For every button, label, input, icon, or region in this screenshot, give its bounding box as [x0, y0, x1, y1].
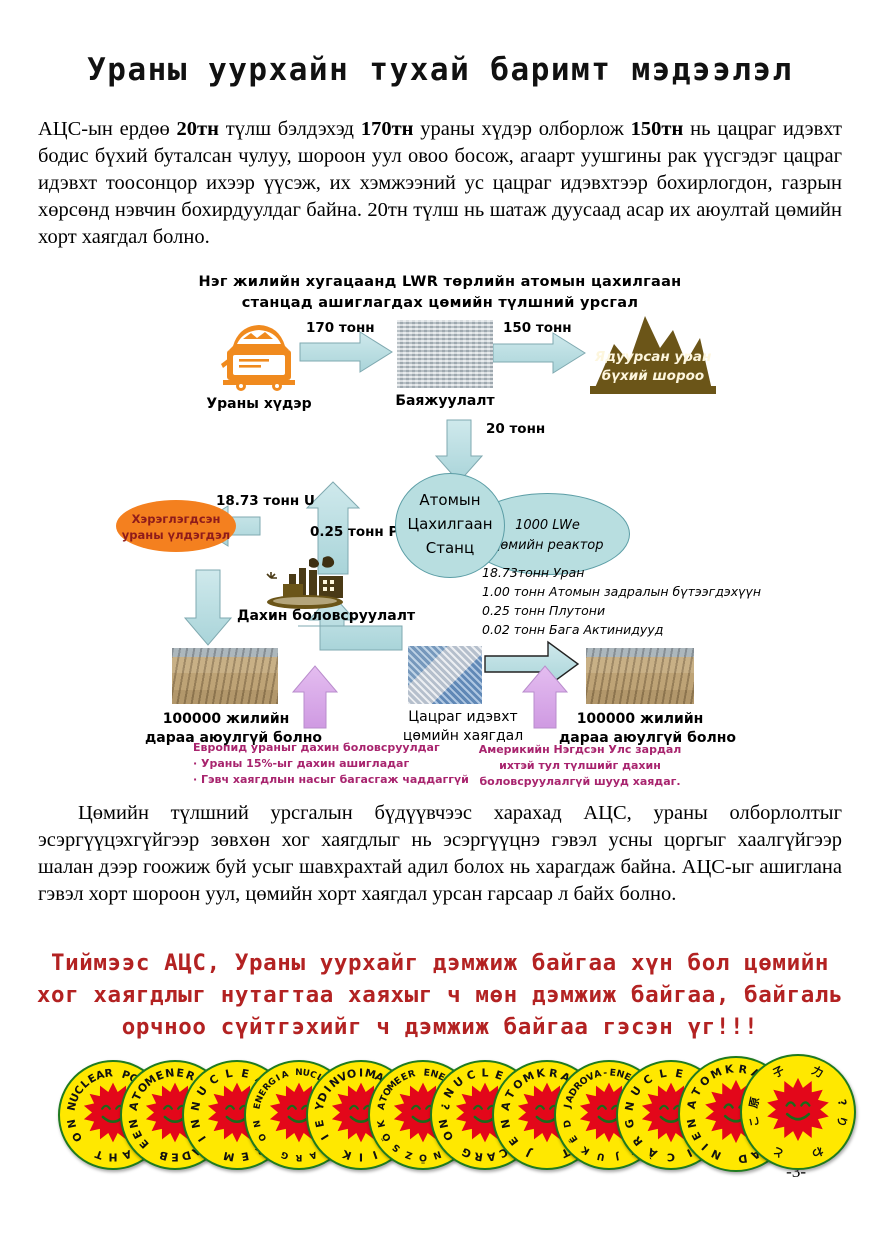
badge-char: G — [623, 1118, 638, 1130]
highlight-value: 20тн — [177, 118, 219, 140]
page-title: Ураны уурхайн тухай баримт мэдээлэл — [0, 52, 880, 88]
badge-char: N — [499, 1118, 514, 1130]
badge-char: N — [623, 1100, 638, 1112]
badge-char — [726, 1152, 732, 1165]
badge-char: R — [407, 1068, 417, 1081]
right-desert-photo — [586, 648, 694, 704]
badge-char: A — [593, 1068, 603, 1081]
badge-char: B — [158, 1148, 170, 1163]
smiling-sun-icon — [764, 1076, 831, 1148]
output-list-item: 0.25 тонн Плутони — [482, 601, 761, 620]
conclusion-line-1: Тиймээс АЦС, Ураны уурхайг дэмжиж байгаа… — [51, 950, 829, 976]
badge-char: - — [603, 1068, 608, 1079]
annotation-europe-bullet: · Ураны 15%-ыг дахин ашигладаг — [193, 756, 469, 772]
anti-nuclear-badge: 原子力?ことわり — [740, 1054, 856, 1170]
annotation-usa-line-2: ихтэй тул түлшийг дахин — [470, 758, 690, 774]
paragraph-text: ураны хүдэр олборлож — [413, 118, 630, 140]
badge-char: A — [127, 1101, 141, 1112]
badge-char: T — [93, 1147, 104, 1162]
badge-char — [290, 1068, 295, 1078]
badge-char: Z — [404, 1148, 414, 1161]
badge-char: N — [189, 1118, 204, 1130]
badge-char: K — [376, 1119, 388, 1128]
badge-char: N — [252, 1119, 263, 1128]
flow-label-enrichment-to-waste: 150 тонн — [503, 320, 572, 336]
label-safe-left-line-1: 100000 жилийн — [163, 711, 290, 727]
badge-char: N — [164, 1066, 175, 1080]
badge-char: R — [104, 1066, 114, 1080]
badge-char: A — [685, 1099, 699, 1110]
conclusion-line-2: хог хаягдлыг нутагтаа хаяхыг ч мөн дэмжи… — [37, 982, 843, 1008]
nuclear-fuel-flow-diagram: Нэг жилийн хугацаанд LWR төрлийн атомын … — [0, 268, 880, 793]
annotation-usa-line-1: Америкийн Нэгдсэн Улс зардал — [470, 742, 690, 758]
label-reactor-line-1: Атомын — [396, 490, 504, 511]
highlight-value: 150тн — [631, 118, 684, 140]
badge-char: L — [224, 1067, 233, 1081]
label-ore: Ураны хүдэр — [199, 396, 319, 412]
badge-char: M — [222, 1149, 235, 1164]
badge-char: K — [536, 1066, 546, 1080]
arrow-spent-uranium-down — [185, 570, 231, 645]
badge-char: N — [685, 1118, 700, 1130]
waste-rock-node: Ядуурсан уран бүхий шороо — [590, 346, 716, 394]
badge-char: 原 — [745, 1096, 763, 1110]
label-waste-rock-line-2: бүхий шороо — [590, 367, 716, 385]
output-list-item: 18.73тонн Уран — [482, 563, 761, 582]
badge-char: N — [127, 1118, 142, 1130]
label-reactor-line-3: Станц — [396, 538, 504, 559]
label-spent-uranium-line-1: Хэрэглэгдсэн — [116, 511, 236, 527]
paragraph-text: түлш бэлдэхэд — [219, 118, 361, 140]
left-desert-photo — [172, 648, 278, 704]
badge-char: N — [437, 1118, 452, 1130]
output-list-item: 0.02 тонн Бага Актинидууд — [482, 620, 761, 639]
label-radioactive-waste-line-1: Цацраг идэвхт — [408, 709, 517, 725]
badge-char: こ — [745, 1114, 763, 1128]
spent-uranium-node: Хэрэглэгдсэн ураны үлдэгдэл — [116, 500, 236, 552]
flow-label-plutonium-out: 0.25 тонн Pu — [310, 524, 408, 540]
badge-char — [545, 1151, 549, 1164]
badge-char: R — [296, 1152, 303, 1162]
badge-char: K — [724, 1062, 734, 1076]
arrow-ore-to-enrichment — [300, 332, 392, 372]
badge-char — [115, 1067, 120, 1080]
anti-nuclear-badge-row: NUCLEAR POWER?NO THANKS ATOMENERGIE?NEE … — [0, 1052, 880, 1182]
badge-char: R — [474, 1149, 484, 1163]
label-enrichment: Баяжуулалт — [385, 393, 505, 409]
flow-label-enrichment-to-reactor: 20 тонн — [486, 421, 545, 437]
badge-char: Ö — [419, 1152, 427, 1163]
badge-char: J — [562, 1103, 573, 1109]
spent-fuel-pool-photo — [408, 646, 482, 704]
label-waste-rock-line-1: Ядуурсан уран — [590, 348, 716, 366]
intro-paragraph: АЦС-ын ердөө 20тн түлш бэлдэхэд 170тн ур… — [38, 116, 842, 251]
flow-label-ore-to-enrichment: 170 тонн — [306, 320, 375, 336]
badge-char: K — [341, 1147, 353, 1162]
badge-char: ¿ — [437, 1102, 451, 1111]
badge-char: N — [189, 1100, 204, 1112]
reactor-output-list: 18.73тонн Уран 1.00 тонн Атомын задралын… — [482, 563, 761, 639]
output-list-item: 1.00 тонн Атомын задралын бүтээгдэхүүн — [482, 582, 761, 601]
badge-char: N — [65, 1118, 80, 1129]
badge-char: L — [481, 1067, 488, 1080]
badge-char: E — [171, 1151, 179, 1164]
arrow-pool-to-desert — [485, 642, 578, 686]
label-spent-uranium-line-2: ураны үлдэгдэл — [116, 527, 236, 543]
label-safe-right-line-1: 100000 жилийн — [577, 711, 704, 727]
ore-cart-icon — [213, 320, 305, 392]
badge-char: A — [280, 1070, 290, 1082]
badge-char: L — [658, 1067, 667, 1081]
flow-label-uranium-out: 18.73 тонн U — [216, 493, 315, 509]
badge-char: I — [359, 1151, 363, 1164]
badge-char: A — [499, 1101, 513, 1112]
annotation-usa: Америкийн Нэгдсэн Улс зардал ихтэй тул т… — [470, 742, 690, 790]
badge-char: G — [280, 1149, 290, 1161]
paragraph-text: АЦС-ын ердөө — [38, 118, 177, 140]
annotation-usa-line-3: боловсруулалгүй шууд хаядаг. — [470, 774, 690, 790]
annotation-europe: Европид ураныг дахин боловсруулдаг · Ура… — [193, 740, 469, 788]
enrichment-facility-photo — [397, 320, 493, 388]
badge-char: O — [346, 1067, 358, 1082]
analysis-paragraph: Цөмийн түлшний урсгалын бүдүүвчээс харах… — [38, 800, 842, 908]
badge-char: ? — [835, 1098, 849, 1107]
highlight-value: 170тн — [361, 118, 414, 140]
reprocessing-plant-icon — [259, 556, 351, 612]
annotation-europe-bullet: · Гэвч хаягдлын насыг багасгаж чаддаггүй — [193, 772, 469, 788]
badge-char: I — [359, 1067, 363, 1080]
badge-char: C — [667, 1151, 675, 1164]
badge-char: H — [109, 1151, 118, 1164]
label-reactor-line-2: Цахилгаан — [396, 514, 504, 535]
arrow-enrichment-to-waste — [493, 333, 585, 373]
label-reprocessing: Дахин боловсруулалт — [237, 608, 397, 624]
badge-char: り — [833, 1114, 851, 1128]
conclusion-line-3: орчноо сүйтгэхийг ч дэмжиж байгаа гэсэн … — [122, 1014, 759, 1040]
badge-char: U — [596, 1150, 606, 1162]
annotation-europe-title: Европид ураныг дахин боловсруулдаг — [193, 740, 469, 756]
badge-char: D — [562, 1119, 574, 1129]
conclusion-text: Тиймээс АЦС, Ураны уурхайг дэмжиж байгаа… — [30, 948, 850, 1044]
badge-char — [417, 1068, 421, 1079]
badge-char: E — [313, 1119, 327, 1129]
